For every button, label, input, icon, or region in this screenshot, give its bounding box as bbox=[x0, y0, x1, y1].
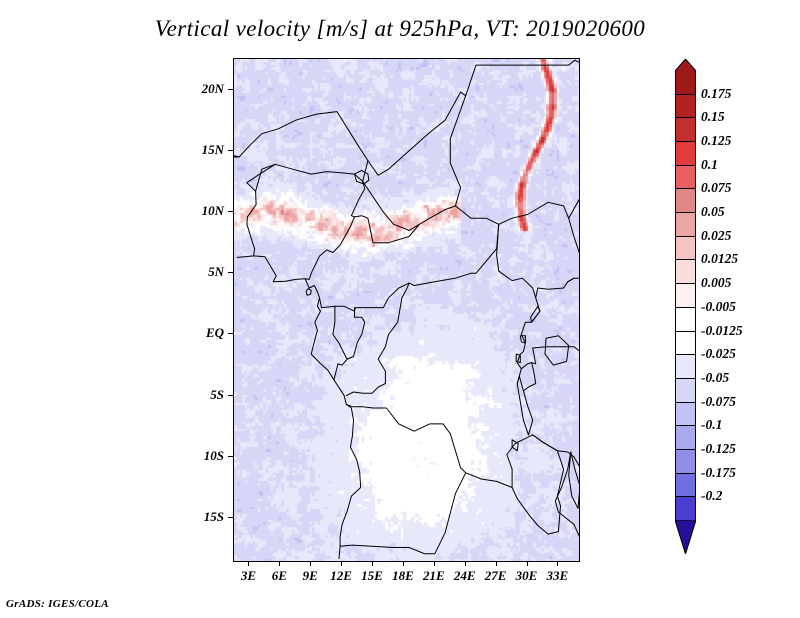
colorbar-tick-label: 0.1 bbox=[701, 157, 718, 173]
map-border-line bbox=[346, 404, 465, 473]
lat-tick-mark bbox=[228, 272, 233, 273]
lon-tick-label: 24E bbox=[454, 568, 476, 584]
map-border-line bbox=[355, 216, 374, 243]
map-border-line bbox=[450, 96, 465, 206]
colorbar-band bbox=[675, 141, 696, 165]
colorbar-tick-mark bbox=[675, 473, 696, 474]
colorbar-tick-mark bbox=[675, 496, 696, 497]
lon-tick-mark bbox=[465, 561, 466, 566]
map-border-line bbox=[545, 336, 569, 365]
colorbar-band bbox=[675, 70, 696, 94]
colorbar-band bbox=[675, 165, 696, 189]
map-border-line bbox=[355, 170, 369, 184]
colorbar-tick-label: -0.0125 bbox=[701, 323, 743, 339]
lat-tick-label: 5N bbox=[208, 264, 224, 280]
lat-tick-label: EQ bbox=[206, 325, 224, 341]
colorbar-top-arrow bbox=[675, 58, 696, 70]
lat-tick-mark bbox=[228, 517, 233, 518]
colorbar-tick-label: -0.1 bbox=[701, 417, 722, 433]
map-border-line bbox=[569, 60, 575, 65]
lat-tick-mark bbox=[228, 395, 233, 396]
colorbar-tick-mark bbox=[675, 165, 696, 166]
map-border-line bbox=[523, 363, 535, 391]
map-border-line bbox=[517, 376, 533, 435]
map-border-line bbox=[247, 183, 256, 256]
colorbar: 0.1750.150.1250.10.0750.050.0250.01250.0… bbox=[660, 58, 800, 563]
colorbar-tick-mark bbox=[675, 402, 696, 403]
map-border-line bbox=[320, 298, 384, 311]
lon-tick-mark bbox=[372, 561, 373, 566]
map-border-line bbox=[568, 278, 574, 282]
lon-tick-mark bbox=[403, 561, 404, 566]
colorbar-tick-label: 0.125 bbox=[701, 133, 731, 149]
colorbar-band bbox=[675, 236, 696, 260]
map-border-line bbox=[340, 473, 466, 554]
lon-tick-mark bbox=[310, 561, 311, 566]
colorbar-band bbox=[675, 188, 696, 212]
colorbar-tick-mark bbox=[675, 259, 696, 260]
lon-tick-mark bbox=[527, 561, 528, 566]
colorbar-tick-mark bbox=[675, 425, 696, 426]
colorbar-band bbox=[675, 496, 696, 520]
colorbar-band bbox=[675, 449, 696, 473]
colorbar-band bbox=[675, 402, 696, 426]
lon-tick-mark bbox=[341, 561, 342, 566]
colorbar-bottom-arrow bbox=[675, 520, 696, 554]
colorbar-tick-mark bbox=[675, 188, 696, 189]
map-panel bbox=[233, 58, 580, 562]
colorbar-tick-mark bbox=[675, 378, 696, 379]
lon-tick-label: 9E bbox=[303, 568, 318, 584]
colorbar-band bbox=[675, 212, 696, 236]
lon-tick-label: 12E bbox=[330, 568, 352, 584]
map-border-line bbox=[305, 174, 365, 279]
colorbar-tick-label: -0.025 bbox=[701, 346, 736, 362]
lat-tick-label: 15N bbox=[202, 142, 224, 158]
map-border-line bbox=[575, 60, 579, 180]
map-border-line bbox=[569, 452, 579, 508]
attribution-footer: GrADS: IGES/COLA bbox=[6, 598, 109, 610]
lat-tick-label: 10N bbox=[202, 203, 224, 219]
map-border-line bbox=[383, 273, 471, 307]
colorbar-band bbox=[675, 473, 696, 497]
colorbar-band bbox=[675, 117, 696, 141]
lon-tick-label: 30E bbox=[516, 568, 538, 584]
map-border-line bbox=[466, 65, 569, 96]
lon-tick-mark bbox=[279, 561, 280, 566]
map-border-line bbox=[346, 283, 409, 396]
colorbar-tick-label: 0.0125 bbox=[701, 251, 738, 267]
colorbar-tick-label: -0.175 bbox=[701, 465, 736, 481]
colorbar-tick-label: -0.005 bbox=[701, 299, 736, 315]
map-border-line bbox=[363, 181, 456, 230]
map-border-line bbox=[455, 206, 498, 273]
map-border-line bbox=[247, 164, 355, 182]
map-border-line bbox=[533, 347, 579, 392]
colorbar-tick-label: -0.125 bbox=[701, 441, 736, 457]
colorbar-tick-mark bbox=[675, 449, 696, 450]
lon-tick-label: 6E bbox=[272, 568, 287, 584]
colorbar-tick-label: 0.175 bbox=[701, 86, 731, 102]
colorbar-band bbox=[675, 425, 696, 449]
colorbar-tick-label: -0.2 bbox=[701, 488, 722, 504]
lat-tick-label: 10S bbox=[204, 448, 224, 464]
colorbar-tick-mark bbox=[675, 354, 696, 355]
lat-tick-mark bbox=[228, 89, 233, 90]
map-border-line bbox=[533, 435, 564, 532]
colorbar-tick-label: -0.075 bbox=[701, 394, 736, 410]
colorbar-tick-label: 0.025 bbox=[701, 228, 731, 244]
lon-tick-mark bbox=[434, 561, 435, 566]
colorbar-tick-mark bbox=[675, 283, 696, 284]
colorbar-tick-mark bbox=[675, 94, 696, 95]
map-border-line bbox=[306, 289, 311, 296]
map-border-line bbox=[499, 202, 569, 224]
map-border-line bbox=[237, 256, 361, 559]
map-border-line bbox=[536, 282, 568, 298]
lon-tick-mark bbox=[248, 561, 249, 566]
colorbar-tick-label: 0.05 bbox=[701, 204, 725, 220]
colorbar-tick-mark bbox=[675, 307, 696, 308]
map-border-line bbox=[256, 164, 276, 191]
lon-tick-label: 15E bbox=[361, 568, 383, 584]
colorbar-tick-mark bbox=[675, 331, 696, 332]
colorbar-tick-label: 0.15 bbox=[701, 109, 725, 125]
colorbar-tick-mark bbox=[675, 141, 696, 142]
colorbar-band bbox=[675, 331, 696, 355]
colorbar-tick-label: 0.005 bbox=[701, 275, 731, 291]
colorbar-tick-label: 0.075 bbox=[701, 180, 731, 196]
colorbar-band bbox=[675, 307, 696, 331]
map-border-line bbox=[568, 218, 579, 282]
colorbar-band bbox=[675, 94, 696, 118]
lon-tick-mark bbox=[557, 561, 558, 566]
lon-tick-label: 3E bbox=[241, 568, 256, 584]
lon-tick-label: 33E bbox=[547, 568, 569, 584]
lat-tick-mark bbox=[228, 333, 233, 334]
colorbar-tick-mark bbox=[675, 212, 696, 213]
lon-tick-label: 18E bbox=[392, 568, 414, 584]
page-title: Vertical velocity [m/s] at 925hPa, VT: 2… bbox=[0, 16, 800, 42]
colorbar-tick-mark bbox=[675, 236, 696, 237]
map-border-line bbox=[531, 306, 540, 322]
colorbar-tick-label: -0.05 bbox=[701, 370, 729, 386]
map-border-line bbox=[569, 114, 579, 218]
colorbar-band bbox=[675, 259, 696, 283]
map-border-line bbox=[373, 224, 419, 242]
lat-tick-mark bbox=[228, 150, 233, 151]
lat-tick-label: 5S bbox=[210, 387, 224, 403]
map-border-line bbox=[512, 440, 518, 451]
map-border-line bbox=[507, 435, 533, 488]
map-border-line bbox=[368, 92, 466, 175]
lat-tick-mark bbox=[228, 211, 233, 212]
lon-tick-mark bbox=[496, 561, 497, 566]
colorbar-tick-mark bbox=[675, 117, 696, 118]
lat-tick-mark bbox=[228, 456, 233, 457]
colorbar-band bbox=[675, 378, 696, 402]
map-border-line bbox=[533, 435, 574, 457]
colorbar-band bbox=[675, 354, 696, 378]
lon-tick-label: 21E bbox=[423, 568, 445, 584]
map-border-line bbox=[333, 306, 347, 359]
colorbar-band bbox=[675, 283, 696, 307]
grads-plot-canvas: Vertical velocity [m/s] at 925hPa, VT: 2… bbox=[0, 0, 800, 618]
map-border-line bbox=[334, 308, 365, 380]
lat-tick-label: 20N bbox=[202, 81, 224, 97]
country-borders-overlay bbox=[234, 59, 579, 561]
lat-tick-label: 15S bbox=[204, 509, 224, 525]
map-border-line bbox=[499, 271, 540, 384]
lon-tick-label: 27E bbox=[485, 568, 507, 584]
